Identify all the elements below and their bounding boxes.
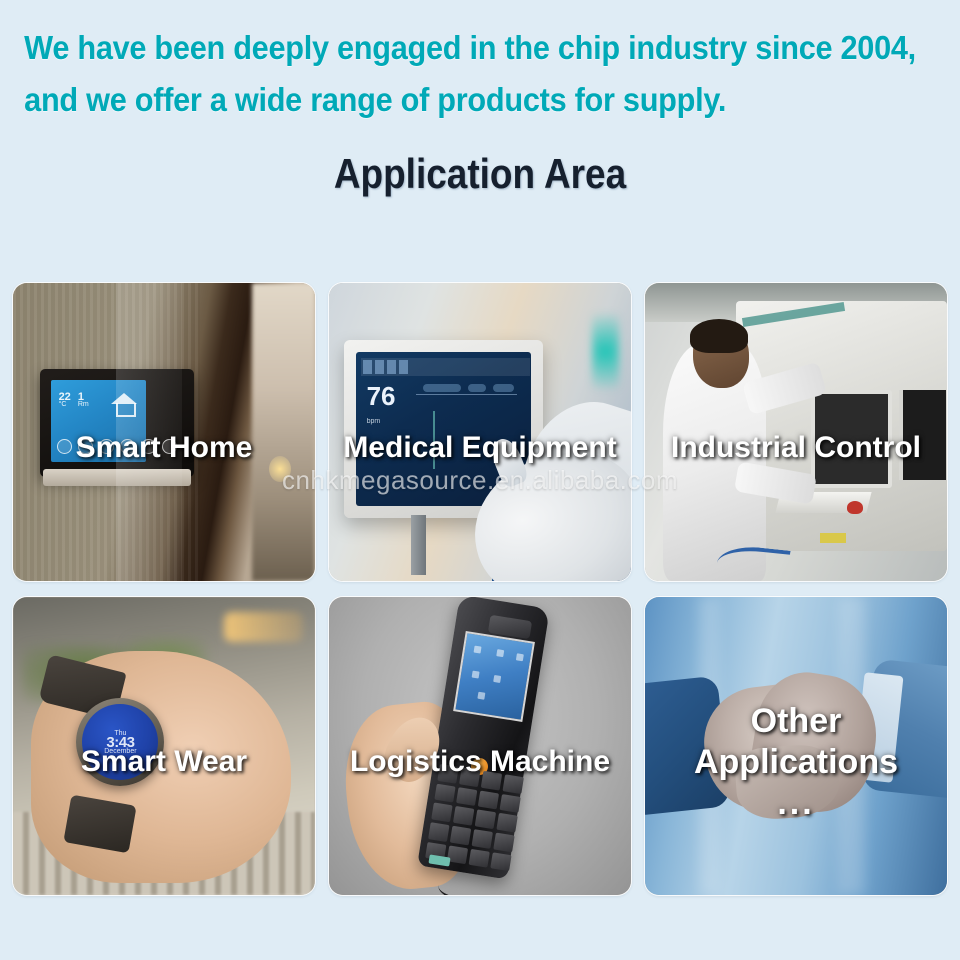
keypad-key [493, 832, 514, 851]
industrial-control-scene [645, 283, 947, 581]
screen-app-icon [477, 691, 485, 699]
keypad-key [471, 829, 492, 848]
application-card-logistics-machine[interactable]: Logistics Machine [329, 597, 631, 895]
screen-app-icon [471, 670, 479, 678]
screen-app-icon [515, 653, 523, 661]
room-value: 1 [78, 393, 89, 401]
metric-pill-spo2 [468, 384, 486, 392]
screen-app-icon [496, 649, 504, 657]
keypad-key [474, 810, 495, 829]
vital-unit: bpm [367, 409, 396, 435]
monitor-topbar [361, 358, 530, 376]
keypad-key [499, 794, 520, 813]
ac-control-icon [99, 439, 114, 454]
topbar-segment [363, 360, 372, 374]
secondary-monitor [899, 390, 945, 479]
panel-widgets: 22 °C 1 Rm [59, 393, 89, 409]
glass-reflection [116, 283, 182, 581]
application-card-industrial-control[interactable]: Industrial Control [645, 283, 947, 581]
monitor-divider [416, 394, 518, 395]
application-card-medical-equipment[interactable]: 76 bpm Medical Equipment [329, 283, 631, 581]
keypad-key [428, 822, 449, 841]
keypad-key [459, 767, 480, 786]
keypad-key [437, 764, 458, 783]
screen-app-icon [474, 645, 482, 653]
keypad-key [434, 783, 455, 802]
scanner-screen [453, 631, 535, 722]
topbar-segment [399, 360, 408, 374]
keypad-key [468, 848, 489, 867]
weather-widget: 22 °C [59, 393, 71, 409]
page-title: Application Area [58, 148, 903, 200]
keypad-key [431, 803, 452, 822]
light-control-icon [57, 439, 72, 454]
room-label: Rm [78, 401, 89, 408]
page-header: We have been deeply engaged in the chip … [0, 0, 960, 200]
room-widget: 1 Rm [78, 393, 89, 409]
keypad-key [490, 852, 511, 871]
device-cable [438, 874, 486, 895]
smart-home-scene: 22 °C 1 Rm [13, 283, 315, 581]
vital-value: 76 [367, 381, 396, 411]
operator-hair [690, 319, 748, 353]
waveform-line [433, 411, 435, 469]
temp-unit: °C [59, 401, 67, 408]
emergency-stop-button [847, 501, 863, 514]
logistics-machine-scene [329, 597, 631, 895]
headline-line-2: and we offer a wide range of products fo… [0, 74, 893, 126]
teal-highlight [592, 313, 619, 390]
temp-value: 22 [59, 393, 71, 401]
fan-control-icon [78, 439, 93, 454]
machine-monitor [811, 390, 891, 487]
vital-reading: 76 bpm [367, 383, 396, 435]
keypad-key [456, 787, 477, 806]
bokeh-lights [224, 612, 303, 642]
keypad-key [496, 813, 517, 832]
headline-line-1: We have been deeply engaged in the chip … [0, 22, 893, 74]
keypad-key [480, 771, 501, 790]
other-applications-scene [645, 597, 947, 895]
keypad-key [502, 774, 523, 793]
lamp-glow-icon [269, 456, 291, 482]
keypad-key [477, 790, 498, 809]
watch-sub: December [104, 747, 136, 756]
topbar-segment [375, 360, 384, 374]
metric-pill-ecg [423, 384, 462, 392]
topbar-segment [387, 360, 396, 374]
application-card-other-applications[interactable]: Other Applications ... [645, 597, 947, 895]
keypad-key [452, 806, 473, 825]
watch-time: 3:43 [106, 738, 134, 747]
application-card-smart-wear[interactable]: Thu 3:43 December Smart Wear [13, 597, 315, 895]
keypad-key [449, 826, 470, 845]
room-background [252, 283, 315, 581]
smart-wear-scene: Thu 3:43 December [13, 597, 315, 895]
watch-face: Thu 3:43 December [82, 704, 158, 780]
metric-pill-nibp [493, 384, 514, 392]
medical-equipment-scene: 76 bpm [329, 283, 631, 581]
monitor-stand [411, 515, 426, 575]
application-area-grid: 22 °C 1 Rm [13, 283, 947, 895]
application-card-smart-home[interactable]: 22 °C 1 Rm [13, 283, 315, 581]
warning-label [820, 533, 846, 543]
screen-app-icon [493, 675, 501, 683]
